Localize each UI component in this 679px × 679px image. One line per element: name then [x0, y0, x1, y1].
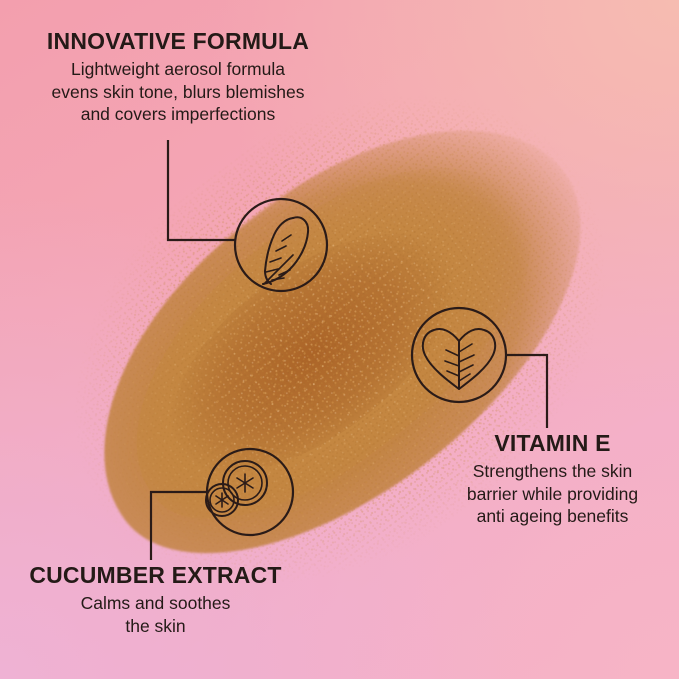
- callout-body-innovative-line-1: Lightweight aerosol formula: [18, 58, 338, 81]
- callout-body-innovative-line-3: and covers imperfections: [18, 103, 338, 126]
- callout-body-vitamin-line-3: anti ageing benefits: [430, 505, 675, 528]
- callout-body-vitamin-line-2: barrier while providing: [430, 483, 675, 506]
- callout-cucumber-extract: CUCUMBER EXTRACT Calms and soothes the s…: [8, 562, 303, 637]
- callout-body-cucumber-line-2: the skin: [8, 615, 303, 638]
- callout-innovative-formula: INNOVATIVE FORMULA Lightweight aerosol f…: [18, 28, 338, 126]
- heart-leaf-icon: [423, 329, 495, 389]
- feather-icon: [263, 217, 308, 284]
- callout-body-vitamin-line-1: Strengthens the skin: [430, 460, 675, 483]
- callout-vitamin-e: VITAMIN E Strengthens the skin barrier w…: [430, 430, 675, 528]
- cucumber-seed-star-large: [237, 474, 253, 492]
- cucumber-slices-icon: [206, 461, 267, 516]
- connector-innovative-formula: [168, 140, 236, 240]
- callout-title-cucumber: CUCUMBER EXTRACT: [8, 562, 303, 589]
- callout-title-vitamin: VITAMIN E: [430, 430, 675, 457]
- connector-cucumber-extract: [151, 492, 207, 560]
- product-benefits-infographic: INNOVATIVE FORMULA Lightweight aerosol f…: [0, 0, 679, 679]
- callout-body-cucumber-line-1: Calms and soothes: [8, 592, 303, 615]
- callout-title-innovative: INNOVATIVE FORMULA: [18, 28, 338, 55]
- callout-body-innovative-line-2: evens skin tone, blurs blemishes: [18, 81, 338, 104]
- badge-cucumber-extract[interactable]: [206, 449, 293, 535]
- badge-innovative-formula[interactable]: [235, 199, 327, 291]
- connector-vitamin-e: [506, 355, 547, 428]
- badge-vitamin-e[interactable]: [412, 308, 506, 402]
